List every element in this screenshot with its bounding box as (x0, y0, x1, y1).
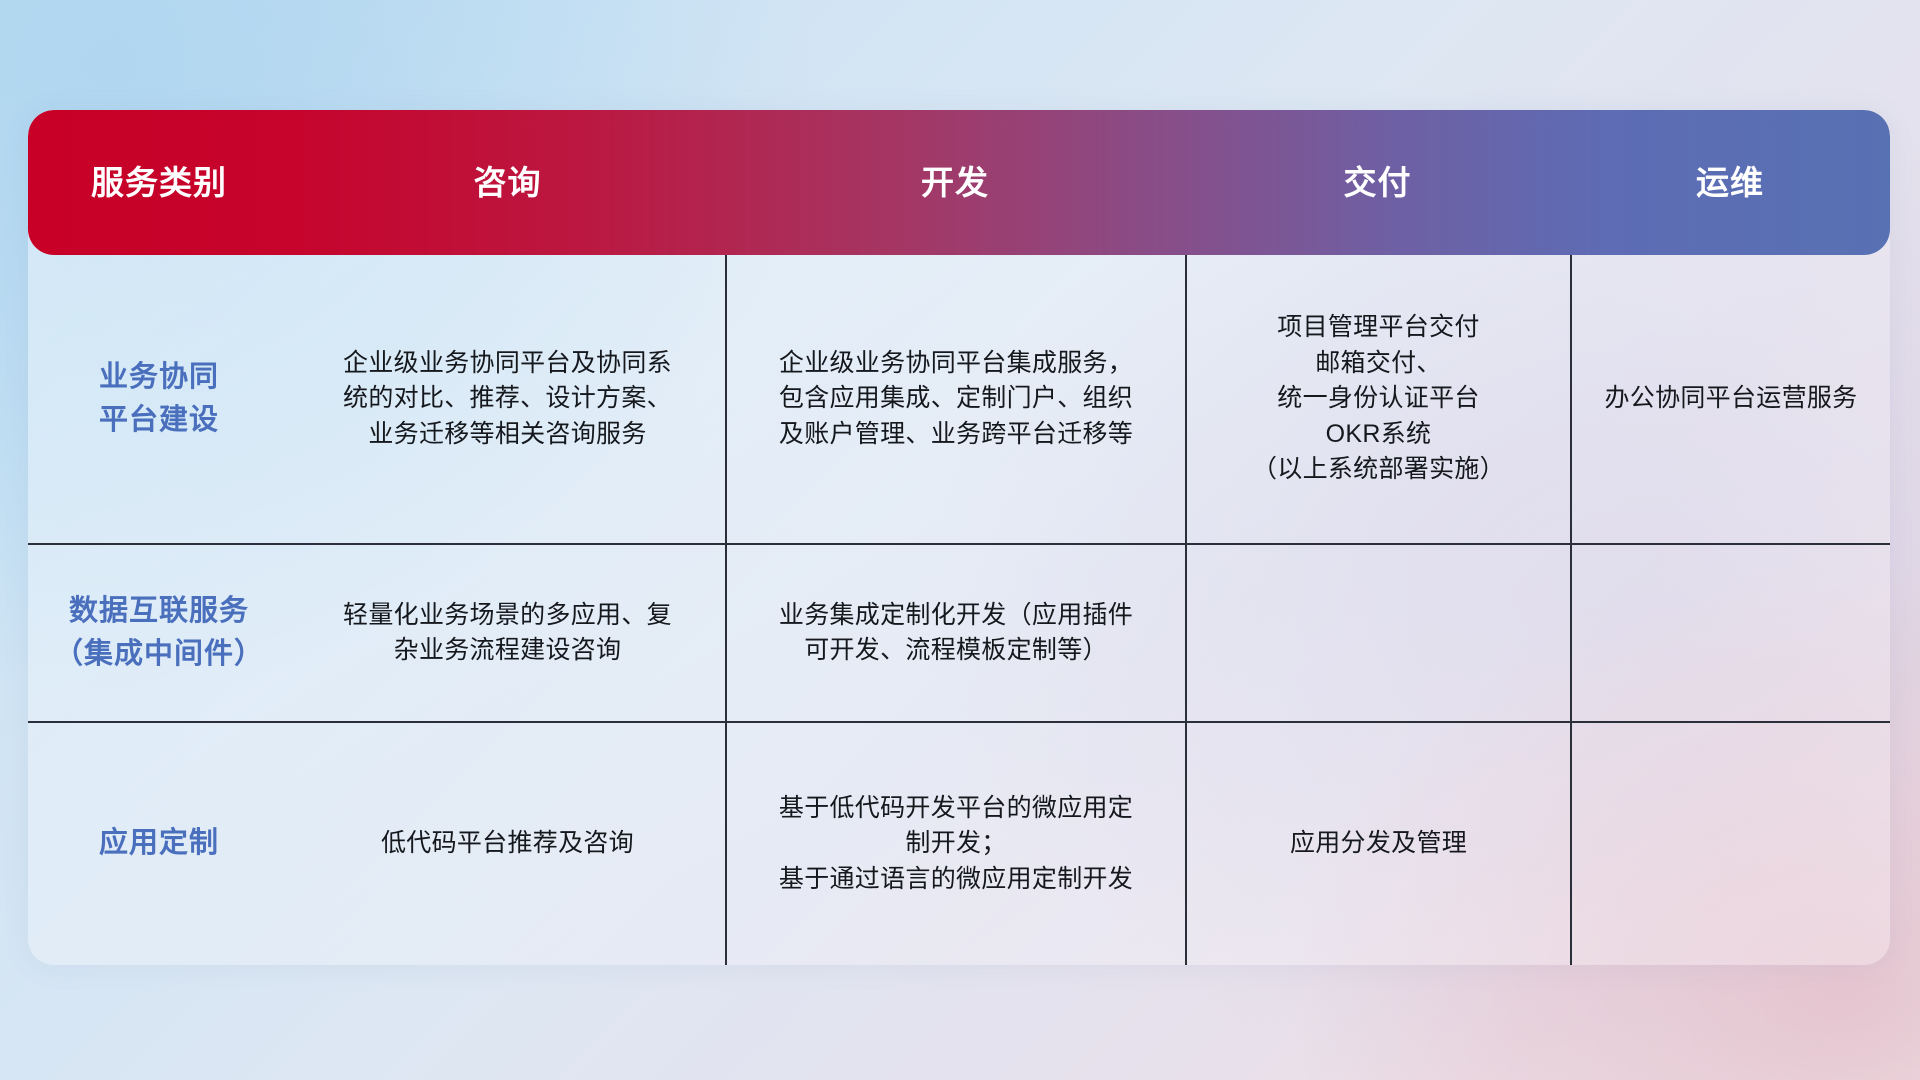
column-header-delivery: 交付 (1185, 163, 1570, 203)
table-row: 业务协同 平台建设 企业级业务协同平台及协同系 统的对比、推荐、设计方案、 业务… (28, 255, 1890, 545)
column-header-category: 服务类别 (28, 163, 290, 203)
cell-consulting: 企业级业务协同平台及协同系 统的对比、推荐、设计方案、 业务迁移等相关咨询服务 (290, 255, 725, 543)
table-body: 业务协同 平台建设 企业级业务协同平台及协同系 统的对比、推荐、设计方案、 业务… (28, 255, 1890, 965)
cell-category: 业务协同 平台建设 (28, 255, 290, 543)
table-row: 应用定制 低代码平台推荐及咨询 基于低代码开发平台的微应用定 制开发； 基于通过… (28, 723, 1890, 965)
cell-operations: 办公协同平台运营服务 (1570, 255, 1890, 543)
cell-operations (1570, 545, 1890, 721)
cell-delivery: 项目管理平台交付 邮箱交付、 统一身份认证平台 OKR系统 （以上系统部署实施） (1185, 255, 1570, 543)
cell-consulting: 低代码平台推荐及咨询 (290, 723, 725, 965)
service-matrix-table: 服务类别 咨询 开发 交付 运维 业务协同 平台建设 企业级业务协同平台及协同系… (28, 110, 1890, 965)
cell-delivery (1185, 545, 1570, 721)
cell-consulting: 轻量化业务场景的多应用、复 杂业务流程建设咨询 (290, 545, 725, 721)
column-header-operations: 运维 (1570, 163, 1890, 203)
table-row: 数据互联服务 （集成中间件） 轻量化业务场景的多应用、复 杂业务流程建设咨询 业… (28, 545, 1890, 723)
cell-development: 业务集成定制化开发（应用插件 可开发、流程模板定制等） (725, 545, 1185, 721)
page-root: 服务类别 咨询 开发 交付 运维 业务协同 平台建设 企业级业务协同平台及协同系… (0, 0, 1920, 1080)
cell-category: 应用定制 (28, 723, 290, 965)
cell-operations (1570, 723, 1890, 965)
column-header-development: 开发 (725, 163, 1185, 203)
cell-development: 企业级业务协同平台集成服务， 包含应用集成、定制门户、组织 及账户管理、业务跨平… (725, 255, 1185, 543)
cell-delivery: 应用分发及管理 (1185, 723, 1570, 965)
column-header-consulting: 咨询 (290, 163, 725, 203)
cell-development: 基于低代码开发平台的微应用定 制开发； 基于通过语言的微应用定制开发 (725, 723, 1185, 965)
table-header-row: 服务类别 咨询 开发 交付 运维 (28, 110, 1890, 255)
cell-category: 数据互联服务 （集成中间件） (28, 545, 290, 721)
